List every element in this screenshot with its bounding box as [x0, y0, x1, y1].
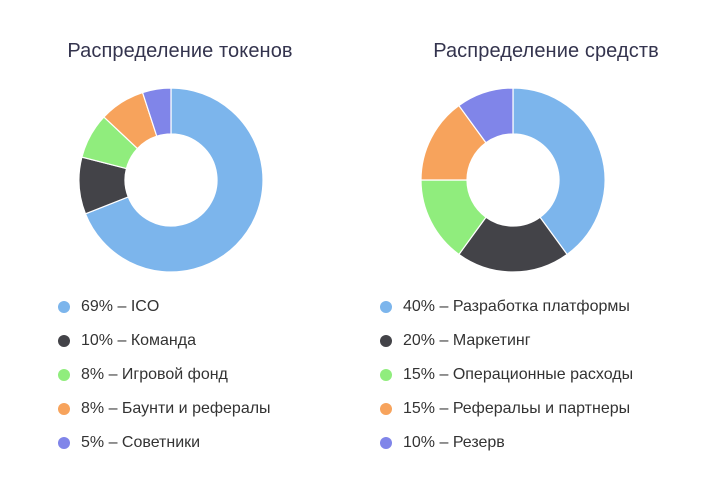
legend-bullet-icon [58, 403, 70, 415]
legend-item-label: 20% – Маркетинг [403, 332, 531, 350]
legend-item[interactable]: 40% – Разработка платформы [380, 290, 720, 324]
legend-item[interactable]: 15% – Операционные расходы [380, 358, 720, 392]
legend-item-label: 5% – Советники [81, 434, 200, 452]
page-title-funds: Распределение средств [360, 39, 720, 63]
legend-item-label: 15% – Операционные расходы [403, 366, 633, 384]
legend-bullet-icon [380, 301, 392, 313]
legend-funds: 40% – Разработка платформы20% – Маркетин… [360, 290, 720, 460]
legend-item-label: 10% – Резерв [403, 434, 505, 452]
donut-chart-funds: Разработка платформы 40%Маркетинг 20%Опе… [360, 87, 720, 273]
legend-item[interactable]: 10% – Резерв [380, 426, 720, 460]
legend-bullet-icon [58, 437, 70, 449]
legend-bullet-icon [58, 369, 70, 381]
legend-bullet-icon [380, 369, 392, 381]
legend-item-label: 69% – ICO [81, 298, 159, 316]
donut-chart-tokens: ICO 69%Команда 10%Игровой фонд 8%Баунти … [0, 87, 360, 273]
funds-distribution-panel: Распределение средств Разработка платфор… [360, 0, 720, 502]
legend-item-label: 15% – Реферальы и партнеры [403, 400, 630, 418]
legend-bullet-icon [380, 335, 392, 347]
legend-bullet-icon [380, 437, 392, 449]
charts-board: Распределение токенов ICO 69%Команда 10%… [0, 0, 720, 502]
donut-chart-funds-svg: Разработка платформы 40%Маркетинг 20%Опе… [420, 87, 606, 273]
legend-item-label: 8% – Баунти и рефералы [81, 400, 271, 418]
legend-bullet-icon [380, 403, 392, 415]
legend-tokens: 69% – ICO10% – Команда8% – Игровой фонд8… [0, 290, 418, 460]
legend-item-label: 8% – Игровой фонд [81, 366, 228, 384]
legend-item[interactable]: 20% – Маркетинг [380, 324, 720, 358]
page-title-tokens: Распределение токенов [0, 39, 360, 63]
legend-item-label: 40% – Разработка платформы [403, 298, 630, 316]
legend-item-label: 10% – Команда [81, 332, 196, 350]
legend-bullet-icon [58, 335, 70, 347]
token-distribution-panel: Распределение токенов ICO 69%Команда 10%… [0, 0, 360, 502]
legend-bullet-icon [58, 301, 70, 313]
legend-item[interactable]: 15% – Реферальы и партнеры [380, 392, 720, 426]
donut-chart-tokens-svg: ICO 69%Команда 10%Игровой фонд 8%Баунти … [78, 87, 264, 273]
